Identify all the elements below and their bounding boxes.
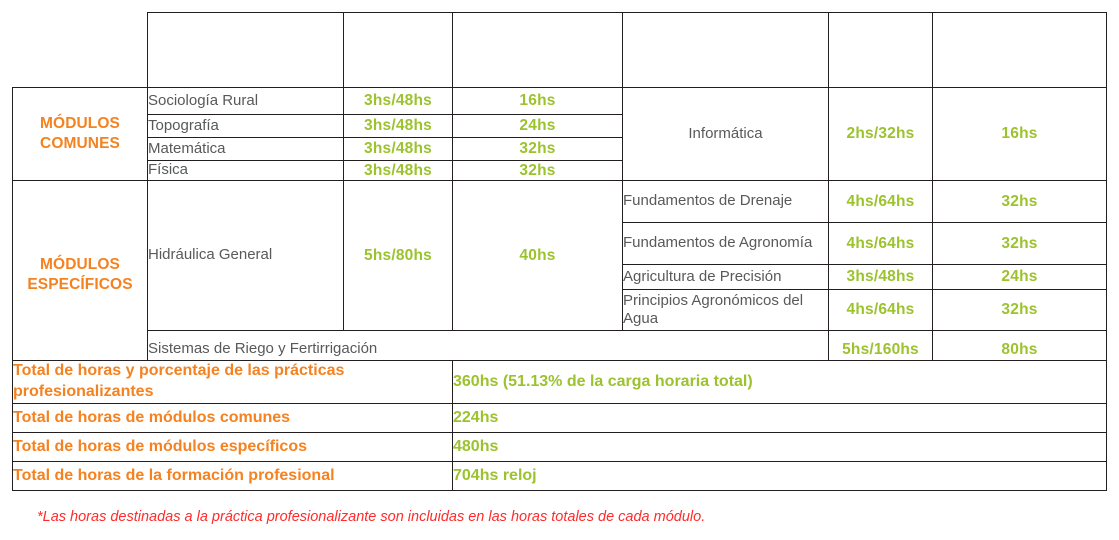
curriculum-table: Primer cuatrimestre Horas reloj Horas pr… bbox=[12, 12, 1107, 369]
practice-informatica: 16hs bbox=[933, 88, 1107, 181]
subject-fundamentos-de-agronomia: Fundamentos de Agronomía bbox=[623, 223, 829, 265]
header-horas-reloj-1: Horas reloj bbox=[344, 13, 453, 88]
summary-value-total-practicas: 360hs (51.13% de la carga horaria total) bbox=[453, 361, 1107, 404]
hours-topografia: 3hs/48hs bbox=[344, 115, 453, 138]
subject-informatica: Informática bbox=[623, 88, 829, 181]
summary-row-total-practicas: Total de horas y porcentaje de las práct… bbox=[13, 361, 1107, 404]
header-primer-cuatrimestre: Primer cuatrimestre bbox=[148, 13, 344, 88]
summary-row-total-comunes: Total de horas de módulos comunes 224hs bbox=[13, 404, 1107, 433]
practice-hidraulica-general: 40hs bbox=[453, 181, 623, 331]
page-root: Primer cuatrimestre Horas reloj Horas pr… bbox=[0, 0, 1119, 540]
hours-informatica: 2hs/32hs bbox=[829, 88, 933, 181]
hours-principios-agronomicos-del-agua: 4hs/64hs bbox=[829, 290, 933, 331]
subject-principios-agronomicos-del-agua: Principios Agronómicos del Agua bbox=[623, 290, 829, 331]
group-label-modulos-especificos: MÓDULOS ESPECÍFICOS bbox=[13, 181, 148, 369]
table-row: MÓDULOS ESPECÍFICOS Hidráulica General 5… bbox=[13, 181, 1107, 223]
practice-agricultura-de-precision: 24hs bbox=[933, 265, 1107, 290]
subject-fisica: Física bbox=[148, 161, 344, 181]
hours-hidraulica-general: 5hs/80hs bbox=[344, 181, 453, 331]
summary-row-total-formacion: Total de horas de la formación profesion… bbox=[13, 462, 1107, 491]
hours-fundamentos-de-agronomia: 4hs/64hs bbox=[829, 223, 933, 265]
summary-label-total-formacion: Total de horas de la formación profesion… bbox=[13, 462, 453, 491]
hours-fundamentos-de-drenaje: 4hs/64hs bbox=[829, 181, 933, 223]
practice-fisica: 32hs bbox=[453, 161, 623, 181]
hours-fisica: 3hs/48hs bbox=[344, 161, 453, 181]
practice-sociologia-rural: 16hs bbox=[453, 88, 623, 115]
summary-label-total-comunes: Total de horas de módulos comunes bbox=[13, 404, 453, 433]
practice-topografia: 24hs bbox=[453, 115, 623, 138]
summary-label-total-especificos: Total de horas de módulos específicos bbox=[13, 433, 453, 462]
practice-fundamentos-de-drenaje: 32hs bbox=[933, 181, 1107, 223]
summary-value-total-especificos: 480hs bbox=[453, 433, 1107, 462]
subject-agricultura-de-precision: Agricultura de Precisión bbox=[623, 265, 829, 290]
practice-fundamentos-de-agronomia: 32hs bbox=[933, 223, 1107, 265]
header-horas-practica-2: Horas práctica profesionalizante* bbox=[933, 13, 1107, 88]
summary-table: Total de horas y porcentaje de las práct… bbox=[12, 360, 1107, 491]
table-header-row: Primer cuatrimestre Horas reloj Horas pr… bbox=[13, 13, 1107, 88]
header-horas-practica-1: Horas práctica profesionalizante* bbox=[453, 13, 623, 88]
hours-matematica: 3hs/48hs bbox=[344, 138, 453, 161]
header-corner-blank bbox=[13, 13, 148, 88]
footnote-text: *Las horas destinadas a la práctica prof… bbox=[37, 509, 705, 525]
group-label-modulos-comunes: MÓDULOS COMUNES bbox=[13, 88, 148, 181]
hours-sociologia-rural: 3hs/48hs bbox=[344, 88, 453, 115]
summary-row-total-especificos: Total de horas de módulos específicos 48… bbox=[13, 433, 1107, 462]
practice-principios-agronomicos-del-agua: 32hs bbox=[933, 290, 1107, 331]
subject-hidraulica-general: Hidráulica General bbox=[148, 181, 344, 331]
header-horas-reloj-2: Horas reloj bbox=[829, 13, 933, 88]
subject-fundamentos-de-drenaje: Fundamentos de Drenaje bbox=[623, 181, 829, 223]
hours-agricultura-de-precision: 3hs/48hs bbox=[829, 265, 933, 290]
practice-matematica: 32hs bbox=[453, 138, 623, 161]
subject-matematica: Matemática bbox=[148, 138, 344, 161]
summary-label-total-practicas: Total de horas y porcentaje de las práct… bbox=[13, 361, 453, 404]
summary-value-total-formacion: 704hs reloj bbox=[453, 462, 1107, 491]
subject-topografia: Topografía bbox=[148, 115, 344, 138]
table-row: MÓDULOS COMUNES Sociología Rural 3hs/48h… bbox=[13, 88, 1107, 115]
subject-sociologia-rural: Sociología Rural bbox=[148, 88, 344, 115]
header-segundo-cuatrimestre: Segundo cuatrimestre bbox=[623, 13, 829, 88]
summary-value-total-comunes: 224hs bbox=[453, 404, 1107, 433]
